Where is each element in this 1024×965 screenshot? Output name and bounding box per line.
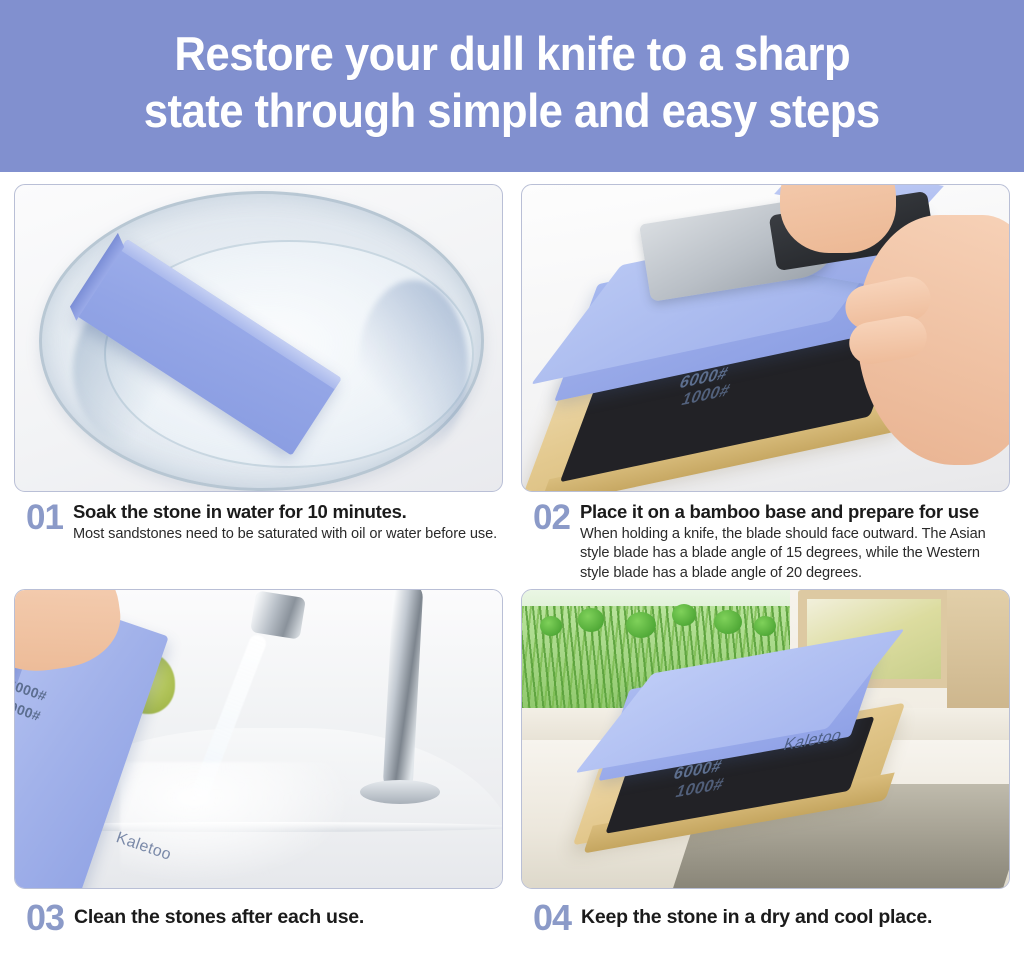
step-card-01: 01 Soak the stone in water for 10 minute… (14, 184, 503, 583)
steps-grid: 01 Soak the stone in water for 10 minute… (0, 172, 1024, 935)
step-03-photo: med 6000# 1000# Kaletoo (14, 589, 503, 889)
step-02-text: Place it on a bamboo base and prepare fo… (580, 501, 1008, 583)
shrub-2 (578, 608, 604, 632)
step-number-02: 02 (533, 501, 570, 535)
step-01-subtitle: Most sandstones need to be saturated wit… (73, 525, 501, 544)
water-splash (120, 762, 350, 882)
step-number-01: 01 (26, 501, 63, 535)
water-highlight-right (358, 280, 468, 455)
step-04-text: Keep the stone in a dry and cool place. (581, 906, 1008, 929)
step-01-photo (14, 184, 503, 492)
step-01-text: Soak the stone in water for 10 minutes. … (73, 501, 501, 544)
step-04-title: Keep the stone in a dry and cool place. (581, 906, 1008, 929)
step-card-02: 6000# 1000# too 02 Place it on a bamboo … (521, 184, 1010, 583)
step-number-03: 03 (26, 900, 64, 934)
step-03-caption: 03 Clean the stones after each use. (14, 889, 503, 934)
step-01-caption: 01 Soak the stone in water for 10 minute… (14, 492, 503, 544)
header-title-line-1: Restore your dull knife to a sharp (174, 26, 850, 83)
step-02-photo: 6000# 1000# too (521, 184, 1010, 492)
step-01-title: Soak the stone in water for 10 minutes. (73, 501, 501, 523)
step-02-title: Place it on a bamboo base and prepare fo… (580, 501, 1008, 523)
step-02-subtitle: When holding a knife, the blade should f… (580, 525, 1008, 583)
step-04-photo: Kaletoo 6000# 1000# (521, 589, 1010, 889)
shrub-3 (626, 612, 656, 638)
header-banner: Restore your dull knife to a sharp state… (0, 0, 1024, 172)
step-card-04: Kaletoo 6000# 1000# 04 Keep the stone in… (521, 589, 1010, 934)
step-number-04: 04 (533, 900, 571, 934)
header-title-line-2: state through simple and easy steps (144, 83, 880, 140)
shrub-5 (714, 610, 742, 634)
faucet-base (360, 780, 440, 804)
window-frame-right (947, 590, 1009, 710)
step-03-title: Clean the stones after each use. (74, 906, 501, 929)
shrub-1 (540, 616, 562, 636)
shrub-6 (754, 616, 776, 636)
faucet-spout (250, 590, 306, 639)
step-03-text: Clean the stones after each use. (74, 906, 501, 929)
step-02-caption: 02 Place it on a bamboo base and prepare… (521, 492, 1010, 583)
shrub-4 (672, 604, 696, 626)
step-card-03: med 6000# 1000# Kaletoo 03 Clean the sto… (14, 589, 503, 934)
step-04-caption: 04 Keep the stone in a dry and cool plac… (521, 889, 1010, 934)
